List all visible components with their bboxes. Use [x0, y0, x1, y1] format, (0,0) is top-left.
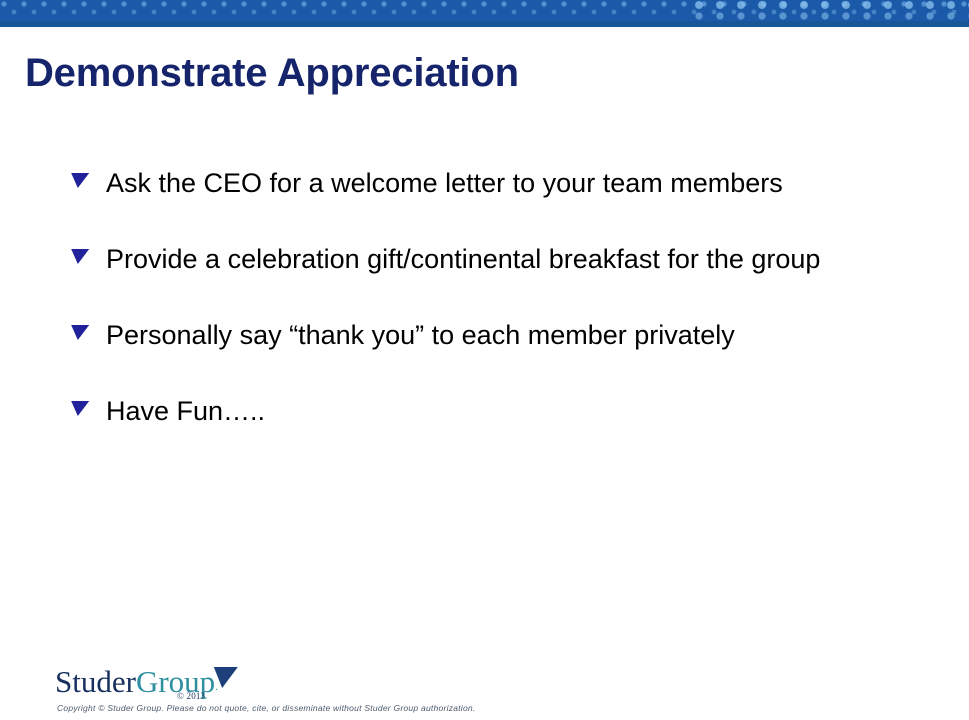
triangle-down-bullet-icon [69, 173, 89, 188]
bullet-list: Ask the CEO for a welcome letter to your… [68, 157, 898, 437]
list-item-label: Provide a celebration gift/continental b… [106, 233, 898, 285]
triangle-down-bullet-icon [69, 325, 89, 340]
page-title: Demonstrate Appreciation [25, 50, 925, 96]
triangle-down-logo-icon [210, 667, 238, 688]
footer-copyright-notice: Copyright © Studer Group. Please do not … [57, 703, 476, 713]
list-item: Have Fun….. [68, 385, 898, 437]
triangle-down-bullet-icon [69, 401, 89, 416]
list-item-label: Ask the CEO for a welcome letter to your… [106, 157, 898, 209]
list-item-label: Personally say “thank you” to each membe… [106, 309, 898, 361]
list-item: Personally say “thank you” to each membe… [68, 309, 898, 361]
top-decorative-banner [0, 0, 969, 27]
triangle-down-bullet-icon [69, 249, 89, 264]
presentation-slide: Demonstrate Appreciation Ask the CEO for… [0, 0, 969, 720]
list-item: Ask the CEO for a welcome letter to your… [68, 157, 898, 209]
banner-base-strip [0, 21, 969, 27]
logo-word-studer: Studer [55, 664, 136, 699]
banner-dot-pattern-right [689, 0, 969, 22]
studer-group-logo: StuderGroup. © 2013 [55, 666, 218, 700]
list-item: Provide a celebration gift/continental b… [68, 233, 898, 285]
list-item-label: Have Fun….. [106, 385, 898, 437]
logo-copyright-year: © 2013 [177, 691, 205, 701]
